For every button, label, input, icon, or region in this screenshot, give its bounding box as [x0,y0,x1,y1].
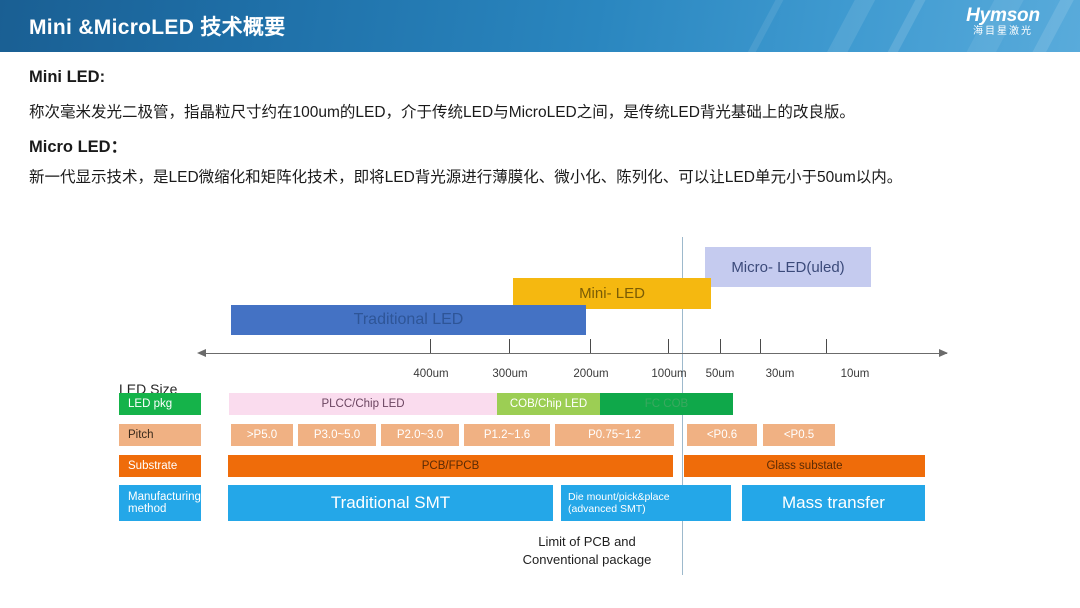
row-label-manufacturing-method: Manufacturing method [119,485,201,521]
cell-pitch-p2-3: P2.0~3.0 [381,424,459,446]
cell-label: <P0.5 [784,429,814,441]
row-label-led-pkg: LED pkg [119,393,201,415]
cell-pitch-p075-12: P0.75~1.2 [555,424,674,446]
header-streak-decoration [728,0,800,52]
cell-pitch-lt-p06: <P0.6 [687,424,757,446]
cell-mass-transfer: Mass transfer [742,485,925,521]
cell-label: P3.0~5.0 [314,429,360,441]
logo-chinese-name: 海目星激光 [944,26,1062,38]
cell-label: FC COB [645,398,688,410]
header-streak-decoration [868,0,942,52]
bar-traditional-led: Traditional LED [231,305,586,335]
header-streak-decoration [808,0,890,52]
cell-fc-cob: FC COB [600,393,733,415]
bar-micro-led: Micro- LED(uled) [705,247,871,287]
axis-tick-label: 30um [752,368,808,380]
axis-tick [509,339,510,353]
cell-label: P1.2~1.6 [484,429,530,441]
axis-tick-label: 100um [638,368,700,380]
cell-label: Mass transfer [782,493,885,513]
pcb-limit-annotation-line2: Conventional package [498,551,676,569]
cell-label: COB/Chip LED [510,398,587,410]
axis-arrow-left [197,349,206,357]
bar-mini-led-label: Mini- LED [579,285,645,302]
axis-arrow-right [939,349,948,357]
cell-label: >P5.0 [247,429,277,441]
cell-plcc-chip-led: PLCC/Chip LED [229,393,497,415]
size-axis-line [205,353,947,354]
axis-tick [760,339,761,353]
row-label-substrate: Substrate [119,455,201,477]
pcb-limit-annotation: Limit of PCB and Conventional package [498,533,676,569]
axis-tick [720,339,721,353]
row-label-pitch: Pitch [119,424,201,446]
pcb-limit-annotation-line1: Limit of PCB and [498,533,676,551]
cell-pitch-p12-16: P1.2~1.6 [464,424,550,446]
led-technology-diagram: Micro- LED(uled) Mini- LED Traditional L… [0,215,1080,608]
axis-tick-label: 300um [479,368,541,380]
axis-tick-label: 50um [692,368,748,380]
axis-tick-label: 10um [827,368,883,380]
bar-micro-led-label: Micro- LED(uled) [731,259,844,276]
cell-pcb-fpcb: PCB/FPCB [228,455,673,477]
page-header: Mini &MicroLED 技术概要 Hymson 海目星激光 [0,0,1080,52]
cell-label: PCB/FPCB [422,460,480,472]
mini-led-heading: Mini LED: [29,68,105,87]
micro-led-description: 新一代显示技术，是LED微缩化和矩阵化技术，即将LED背光源进行薄膜化、微小化、… [29,165,902,187]
cell-cob-chip-led: COB/Chip LED [497,393,600,415]
cell-label: Die mount/pick&place (advanced SMT) [568,491,670,515]
axis-tick [826,339,827,353]
company-logo: Hymson 海目星激光 [944,5,1062,48]
cell-label: P0.75~1.2 [588,429,641,441]
micro-led-heading: Micro LED： [29,133,127,157]
cell-label: <P0.6 [707,429,737,441]
axis-tick-label: 200um [560,368,622,380]
cell-label: P2.0~3.0 [397,429,443,441]
cell-pitch-lt-p05: <P0.5 [763,424,835,446]
axis-tick [430,339,431,353]
bar-traditional-led-label: Traditional LED [354,311,464,329]
cell-die-mount-pick-place: Die mount/pick&place (advanced SMT) [561,485,731,521]
mini-led-description: 称次毫米发光二极管，指晶粒尺寸约在100um的LED，介于传统LED与Micro… [29,100,855,122]
cell-pitch-p3-5: P3.0~5.0 [298,424,376,446]
logo-wordmark: Hymson [944,5,1062,26]
cell-glass-substate: Glass substate [684,455,925,477]
axis-tick-label: 400um [400,368,462,380]
page-title: Mini &MicroLED 技术概要 [29,11,286,41]
cell-label: Glass substate [766,460,842,472]
cell-pitch-p5: >P5.0 [231,424,293,446]
cell-label: Traditional SMT [331,493,450,513]
axis-tick [590,339,591,353]
cell-label: PLCC/Chip LED [321,398,404,410]
axis-tick [668,339,669,353]
cell-traditional-smt: Traditional SMT [228,485,553,521]
